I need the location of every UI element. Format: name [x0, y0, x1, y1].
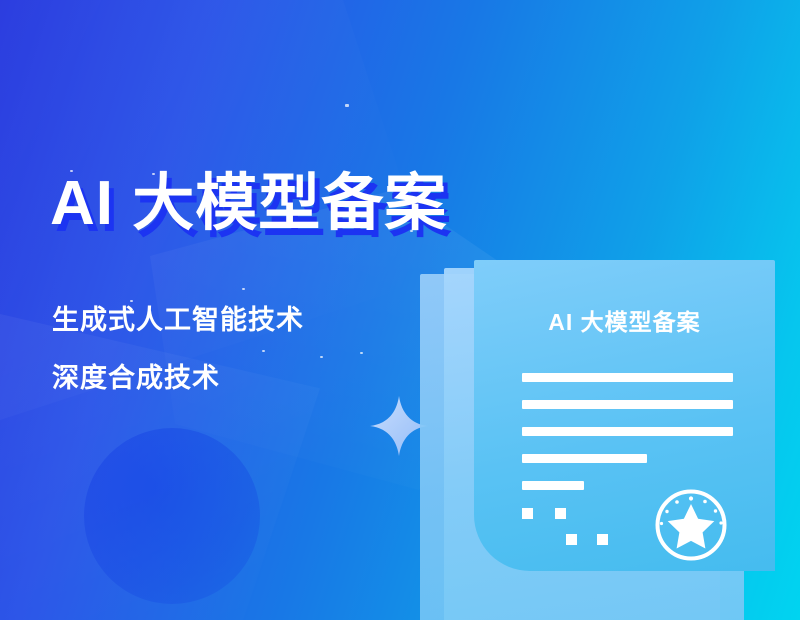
particle-dot [262, 350, 265, 352]
particle-dot [360, 352, 363, 354]
document-text-line [522, 427, 733, 436]
promo-banner: AI 大模型备案 生成式人工智能技术 深度合成技术 AI 大模型备案 [0, 0, 800, 620]
document-text-line [522, 454, 647, 463]
document-text-line [522, 400, 733, 409]
page-title: AI 大模型备案 [50, 173, 447, 235]
subtitle-line-1: 生成式人工智能技术 [52, 307, 304, 334]
document-text-block [597, 534, 608, 545]
document-text-line [522, 373, 733, 382]
star-seal-icon [653, 487, 729, 563]
particle-dot [130, 300, 133, 302]
document-text-line [522, 481, 584, 490]
particle-dot [345, 104, 349, 107]
document-card-title: AI 大模型备案 [474, 311, 775, 334]
document-text-block [522, 508, 533, 519]
subtitle-line-2: 深度合成技术 [52, 365, 220, 392]
document-card[interactable]: AI 大模型备案 [474, 260, 775, 571]
particle-dot [242, 288, 245, 290]
particle-dot [320, 356, 323, 358]
background-polygon-3 [0, 300, 320, 620]
circle-decor [84, 428, 260, 604]
document-text-block [555, 508, 566, 519]
document-text-block [566, 534, 577, 545]
